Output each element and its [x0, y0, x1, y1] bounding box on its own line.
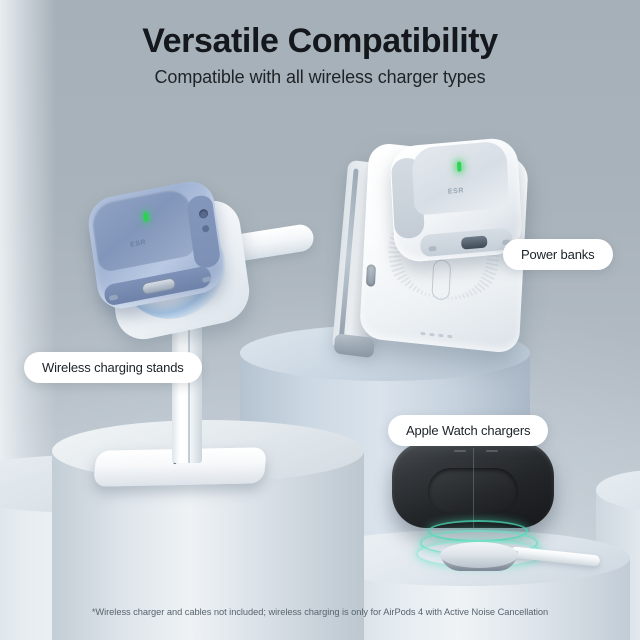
- battery-led: [438, 334, 443, 338]
- power-bank-battery-leds: [420, 332, 452, 338]
- battery-led: [420, 332, 425, 336]
- charging-led-indicator: [457, 161, 462, 171]
- callout-power-banks[interactable]: Power banks: [503, 239, 613, 270]
- disclaimer-footnote: *Wireless charger and cables not include…: [0, 607, 640, 617]
- brand-logo: ESR: [448, 188, 465, 196]
- case-top-dash-left: [454, 450, 466, 452]
- case-top-dash-right: [486, 450, 498, 452]
- battery-led: [447, 335, 452, 339]
- callout-apple-watch-chargers[interactable]: Apple Watch chargers: [388, 415, 548, 446]
- puck-disc: [440, 542, 518, 568]
- header-block: Versatile Compatibility Compatible with …: [0, 22, 640, 88]
- case-lid-seam: [473, 448, 474, 528]
- product-marketing-scene: Versatile Compatibility Compatible with …: [0, 0, 640, 640]
- callout-wireless-charging-stands[interactable]: Wireless charging stands: [24, 352, 202, 383]
- airpods-case-black: [392, 442, 554, 528]
- battery-led: [429, 333, 434, 337]
- airpods-case-blue: ESR: [85, 177, 226, 312]
- wireless-charging-stand: ESR: [110, 195, 310, 485]
- apple-watch-charger-group: [392, 442, 572, 572]
- case-lid: [411, 140, 509, 215]
- power-bank-clip-icon: [432, 259, 452, 301]
- case-usbc-port: [461, 235, 488, 249]
- page-subtitle: Compatible with all wireless charger typ…: [0, 67, 640, 88]
- power-bank-usbc-port: [366, 264, 376, 287]
- magnetic-power-bank: ESR: [348, 150, 528, 355]
- airpods-case-white: ESR: [389, 136, 523, 263]
- kickstand-hinge: [339, 168, 359, 342]
- apple-watch-charging-puck: [440, 542, 518, 572]
- page-title: Versatile Compatibility: [0, 22, 640, 61]
